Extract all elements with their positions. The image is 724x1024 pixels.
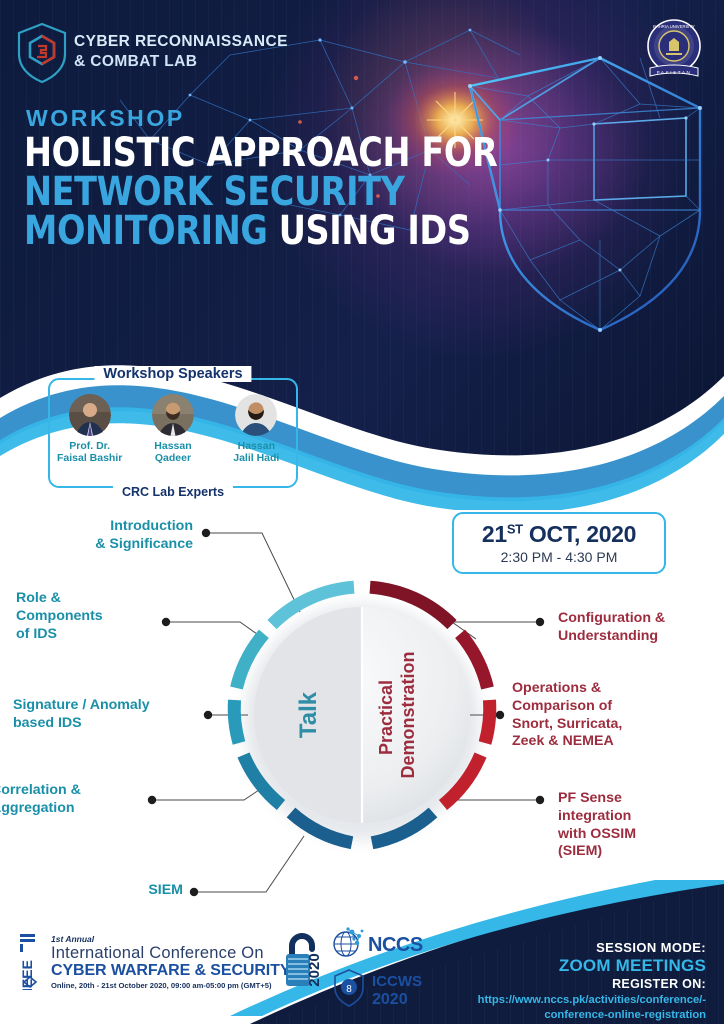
speakers-list: Prof. Dr. Faisal Bashir Hassan Qadeer Ha…	[48, 394, 298, 465]
avatar	[235, 394, 277, 436]
topic-label-configuration: Configuration & Understanding	[558, 610, 723, 646]
bahria-university-seal: BAHRIA UNIVERSITY PAKISTAN	[642, 16, 706, 86]
event-date: 21ST OCT, 2020	[482, 521, 636, 548]
title-line-2: NETWORK SECURITY	[24, 173, 497, 212]
date-month-year: OCT, 2020	[523, 521, 636, 547]
title-line-3: MONITORING USING IDS	[24, 212, 497, 251]
register-url-line-2[interactable]: conference-online-registration	[478, 1008, 706, 1023]
hero-kicker: WORKSHOP	[26, 105, 185, 132]
svg-text:BAHRIA UNIVERSITY: BAHRIA UNIVERSITY	[653, 24, 695, 29]
crc-shield-logo	[16, 22, 68, 84]
topic-label-operations-comparison: Operations & Comparison of Snort, Surric…	[512, 680, 717, 751]
speakers-panel: Workshop Speakers Prof. Dr. Faisal Bashi…	[48, 378, 298, 488]
register-url[interactable]: https://www.nccs.pk/activities/conferenc…	[478, 993, 706, 1022]
avatar	[69, 394, 111, 436]
session-mode-label: SESSION MODE:	[478, 940, 706, 955]
topic-line: PF Sense	[558, 790, 718, 808]
event-time: 2:30 PM - 4:30 PM	[501, 549, 618, 565]
topic-line: with OSSIM	[558, 826, 718, 844]
speaker-name-line2: Faisal Bashir	[55, 452, 125, 464]
lock-year: 2020	[306, 953, 323, 986]
date-ordinal: ST	[507, 521, 523, 536]
nccs-logo: NCCS	[330, 926, 450, 960]
iccws-year: 2020	[372, 991, 408, 1008]
ieee-conference-logo: IEEE 1st Annual International Conference…	[18, 932, 290, 990]
speaker-name-line2: Jalil Hadi	[221, 452, 291, 464]
speaker-name-line1: Prof. Dr.	[55, 440, 125, 452]
topic-line: based IDS	[13, 715, 198, 733]
speakers-heading: Workshop Speakers	[94, 366, 251, 382]
register-label: REGISTER ON:	[478, 977, 706, 991]
padlock-2020-icon: 2020	[278, 928, 324, 992]
topic-line: Snort, Surricata,	[512, 716, 717, 734]
speaker-name-line1: Hassan	[221, 440, 291, 452]
topic-line: & Significance	[23, 536, 193, 554]
speaker-item: Hassan Qadeer	[138, 394, 208, 465]
conference-details: Online, 20th - 21st October 2020, 09:00 …	[51, 981, 290, 990]
iccws-shield-icon: 8	[335, 970, 363, 1006]
conference-line-1: International Conference On	[51, 944, 290, 962]
ieee-text-block: 1st Annual International Conference On C…	[51, 932, 290, 990]
topic-line: Zeek & NEMEA	[512, 733, 717, 751]
speaker-item: Hassan Jalil Hadi	[221, 394, 291, 465]
speaker-name-line2: Qadeer	[138, 452, 208, 464]
topic-line: Understanding	[558, 628, 723, 646]
topic-label-signature-anomaly: Signature / Anomaly based IDS	[13, 697, 198, 733]
topic-line: Role &	[16, 590, 156, 608]
nccs-label: NCCS	[368, 934, 423, 956]
topic-label-pfsense-ossim: PF Sense integration with OSSIM (SIEM)	[558, 790, 718, 861]
speaker-item: Prof. Dr. Faisal Bashir	[55, 394, 125, 465]
speakers-footer: CRC Lab Experts	[113, 485, 233, 499]
brand-text: CYBER RECONNAISSANCE & COMBAT LAB	[74, 32, 288, 72]
title-line-3b: USING IDS	[279, 208, 471, 254]
page-title: HOLISTIC APPROACH FOR NETWORK SECURITY M…	[24, 134, 533, 250]
speaker-name-line1: Hassan	[138, 440, 208, 452]
topic-line: Components	[16, 608, 156, 626]
topic-line: Aggregation	[0, 800, 141, 818]
topic-line: SIEM	[93, 882, 183, 900]
title-line-1: HOLISTIC APPROACH FOR	[24, 134, 497, 173]
circle-left-label: Talk	[295, 691, 322, 738]
topic-line: Introduction	[23, 518, 193, 536]
topic-line: Comparison of	[512, 698, 717, 716]
conference-line-2: CYBER WARFARE & SECURITY	[51, 962, 290, 980]
date-time-box: 21ST OCT, 2020 2:30 PM - 4:30 PM	[452, 512, 666, 574]
session-info: SESSION MODE: ZOOM MEETINGS REGISTER ON:…	[478, 940, 706, 1022]
topic-label-siem: SIEM	[93, 882, 183, 900]
topic-line: Operations &	[512, 680, 717, 698]
svg-text:8: 8	[346, 984, 352, 995]
avatar	[152, 394, 194, 436]
topic-line: Signature / Anomaly	[13, 697, 198, 715]
nccs-globe-icon	[334, 927, 363, 956]
annual-label: 1st Annual	[51, 934, 290, 944]
register-url-line-1[interactable]: https://www.nccs.pk/activities/conferenc…	[478, 993, 706, 1008]
svg-text:PAKISTAN: PAKISTAN	[657, 70, 692, 75]
topic-line: of IDS	[16, 626, 156, 644]
topic-label-role-components: Role & Components of IDS	[16, 590, 156, 643]
topic-line: Correlation &	[0, 782, 141, 800]
date-number: 21	[482, 521, 507, 547]
title-line-3a: MONITORING	[24, 208, 267, 254]
topic-line: (SIEM)	[558, 843, 718, 861]
brand-line-1: CYBER RECONNAISSANCE	[74, 32, 288, 52]
topic-label-introduction: Introduction & Significance	[23, 518, 193, 554]
topic-line: integration	[558, 808, 718, 826]
topic-label-correlation: Correlation & Aggregation	[0, 782, 141, 818]
iccws-label: ICCWS	[372, 973, 422, 990]
ieee-mark-icon: IEEE	[18, 932, 44, 990]
brand-line-2: & COMBAT LAB	[74, 52, 288, 72]
topic-line: Configuration &	[558, 610, 723, 628]
session-mode-value: ZOOM MEETINGS	[478, 955, 706, 976]
iccws-logo: 8 ICCWS 2020	[332, 966, 452, 1010]
